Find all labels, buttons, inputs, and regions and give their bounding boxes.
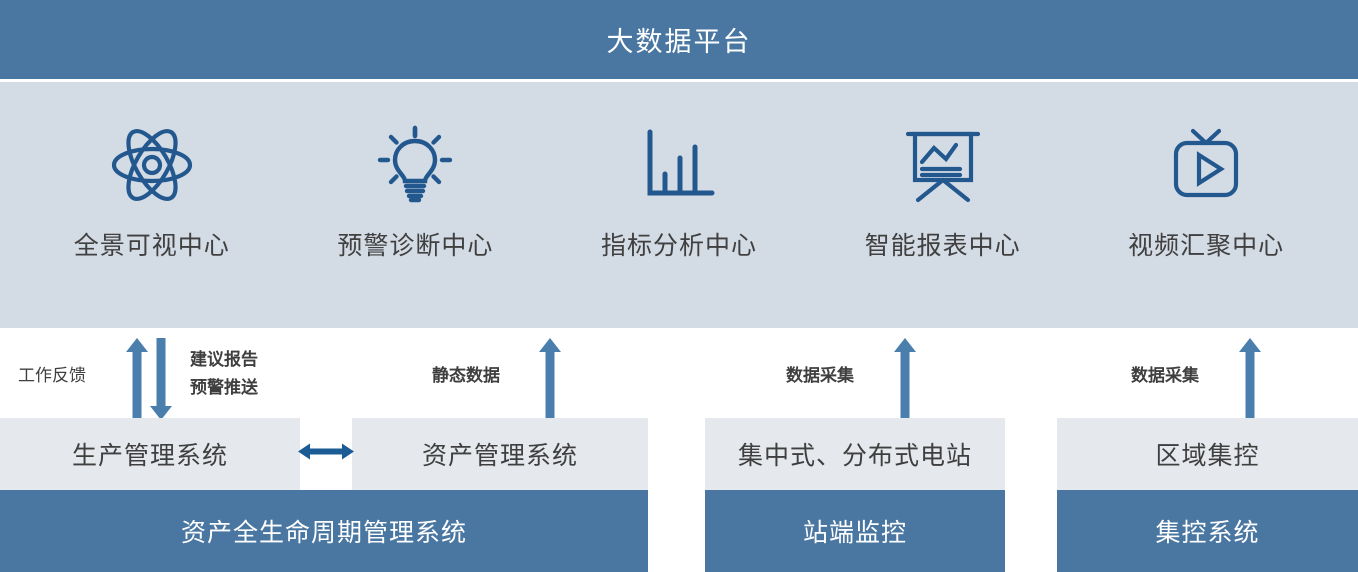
presentation-chart-icon [902, 126, 984, 204]
arrow-up-data-collection-stations [894, 338, 918, 420]
arrow-up-static-data [539, 338, 563, 420]
system-label-asset-management: 资产管理系统 [422, 436, 578, 472]
flow-label-static-data: 静态数据 [432, 364, 500, 388]
centers-panel: 全景可视中心 [0, 82, 1358, 328]
bidirectional-arrow-icon [298, 442, 354, 467]
center-label-video-aggregation: 视频汇聚中心 [1128, 226, 1284, 262]
system-label-asset-lifecycle: 资产全生命周期管理系统 [181, 513, 467, 549]
video-play-icon [1166, 126, 1246, 204]
lightbulb-icon [375, 126, 455, 204]
system-row-upper: 生产管理系统 资产管理系统 [0, 418, 648, 490]
flow-label-data-collection-regional: 数据采集 [1131, 364, 1199, 388]
system-box-regional-control[interactable]: 区域集控 [1057, 418, 1358, 490]
flow-label-alert-push: 预警推送 [190, 376, 258, 400]
center-label-smart-report: 智能报表中心 [865, 226, 1021, 262]
center-item-smart-report[interactable]: 智能报表中心 [818, 82, 1068, 262]
system-group-station: 集中式、分布式电站 站端监控 [705, 418, 1005, 572]
system-label-production-management: 生产管理系统 [72, 436, 228, 472]
flow-label-advice-report: 建议报告 [190, 348, 258, 372]
bar-chart-icon [640, 126, 718, 204]
platform-header-bar: 大数据平台 [0, 0, 1358, 79]
atom-icon [110, 126, 194, 204]
flow-label-data-collection-stations: 数据采集 [786, 364, 854, 388]
system-box-asset-management[interactable]: 资产管理系统 [352, 418, 648, 490]
system-box-station-monitoring[interactable]: 站端监控 [705, 490, 1005, 572]
flow-label-work-feedback: 工作反馈 [18, 364, 86, 388]
center-item-panorama[interactable]: 全景可视中心 [27, 82, 277, 262]
system-box-central-control-system[interactable]: 集控系统 [1057, 490, 1358, 572]
system-label-power-stations: 集中式、分布式电站 [738, 436, 972, 472]
center-label-alert-diagnosis: 预警诊断中心 [337, 226, 493, 262]
center-label-panorama: 全景可视中心 [74, 226, 230, 262]
center-label-metric-analysis: 指标分析中心 [601, 226, 757, 262]
system-gap [300, 418, 352, 490]
system-box-asset-lifecycle[interactable]: 资产全生命周期管理系统 [0, 490, 648, 572]
arrow-up-work-feedback [126, 338, 150, 420]
system-label-station-monitoring: 站端监控 [803, 513, 907, 549]
system-label-central-control-system: 集控系统 [1155, 513, 1259, 549]
system-label-regional-control: 区域集控 [1155, 436, 1259, 472]
center-item-alert-diagnosis[interactable]: 预警诊断中心 [290, 82, 540, 262]
page-title: 大数据平台 [607, 20, 752, 59]
system-group-central-control: 区域集控 集控系统 [1057, 418, 1358, 572]
arrow-down-advice-alert [150, 338, 174, 420]
system-box-power-stations[interactable]: 集中式、分布式电站 [705, 418, 1005, 490]
data-flow-band: 工作反馈 建议报告 预警推送 静态数据 数据采集 数据采集 [0, 328, 1358, 418]
arrow-up-data-collection-regional [1239, 338, 1263, 420]
system-group-asset-lifecycle: 生产管理系统 资产管理系统 资产全生命周期管理系统 [0, 418, 648, 572]
system-box-production-management[interactable]: 生产管理系统 [0, 418, 300, 490]
center-item-video-aggregation[interactable]: 视频汇聚中心 [1081, 82, 1331, 262]
center-item-metric-analysis[interactable]: 指标分析中心 [554, 82, 804, 262]
